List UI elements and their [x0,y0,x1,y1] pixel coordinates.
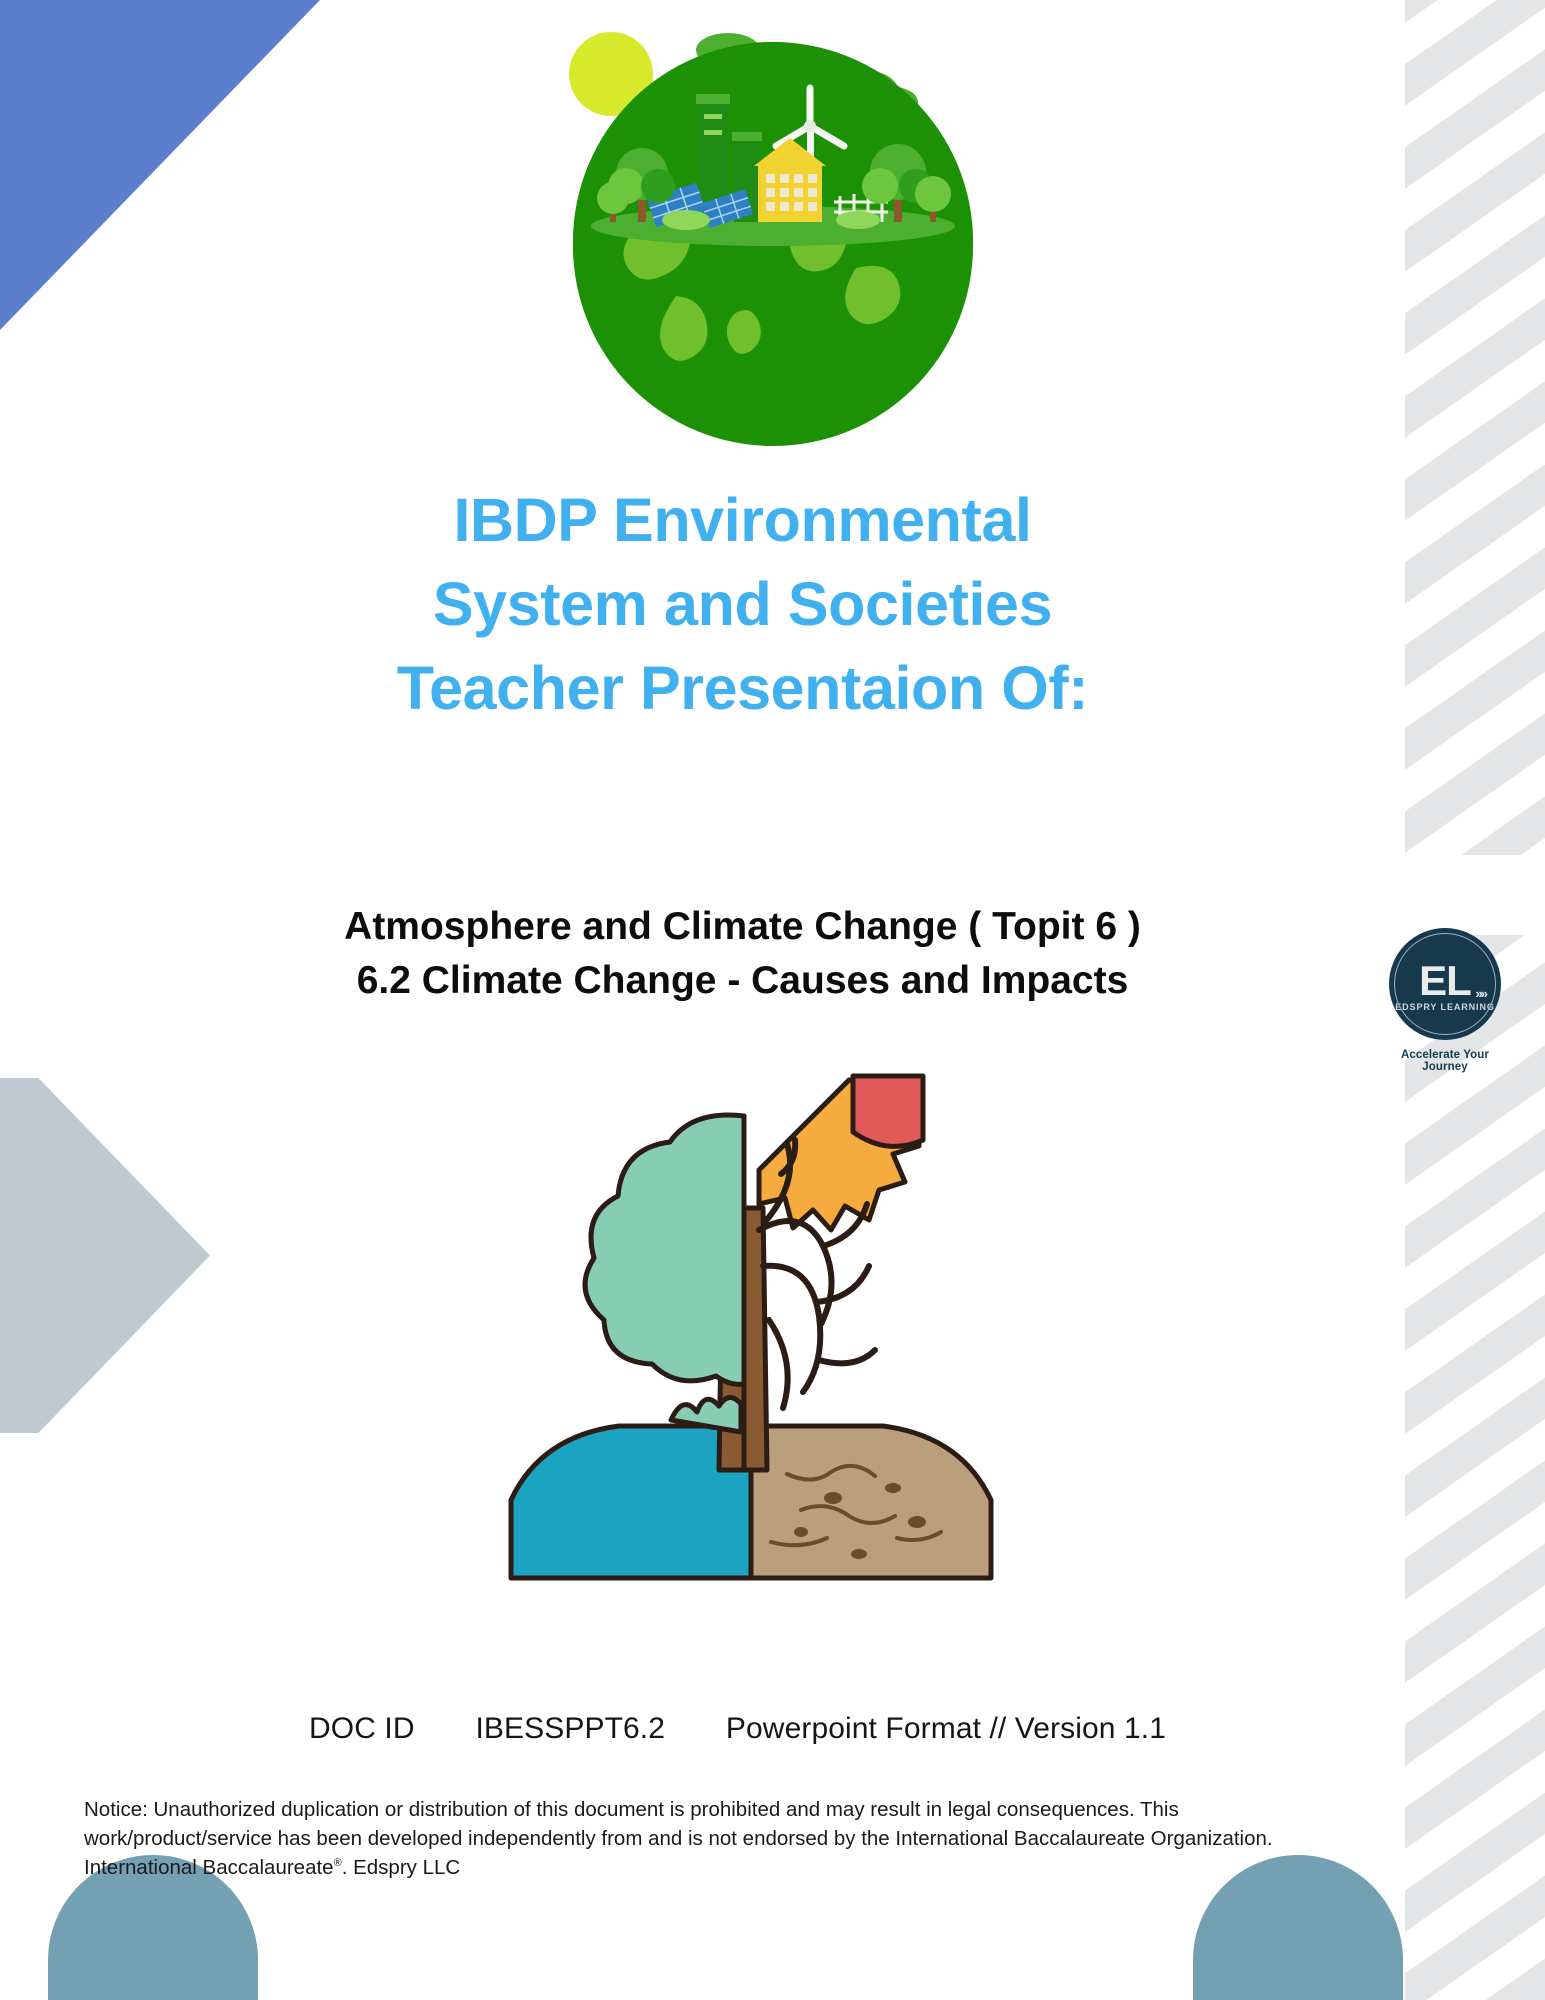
subtitle-line-topic: Atmosphere and Climate Change ( Topit 6 … [0,900,1485,954]
page-title: IBDP Environmental System and Societies … [0,478,1545,731]
notice-line-1: Notice: Unauthorized duplication or dist… [84,1795,1384,1824]
registered-mark-icon: ® [334,1857,342,1869]
doc-format-version: Powerpoint Format // Version 1.1 [726,1712,1166,1746]
doc-meta-line: DOC ID IBESSPPT6.2 Powerpoint Format // … [0,1712,1545,1746]
edspry-learning-logo: EL »» EDSPRY LEARNING Accelerate Your Jo… [1383,928,1507,1073]
logo-circle: EL »» EDSPRY LEARNING [1389,928,1501,1040]
notice-owner-text: . Edspry LLC [342,1856,461,1879]
doc-id-value: IBESSPPT6.2 [476,1712,666,1746]
green-earth-illustration [558,14,988,454]
climate-change-split-illustration [501,1070,1001,1600]
logo-tagline: Accelerate Your Journey [1383,1049,1507,1073]
logo-monogram: EL [1419,962,1471,1001]
subtitle-line-unit: 6.2 Climate Change - Causes and Impacts [0,954,1485,1008]
double-chevron-icon: »» [1476,986,1486,1001]
title-line-1: IBDP Environmental [0,478,1485,562]
title-line-3: Teacher Presentaion Of: [0,646,1485,730]
notice-line-2: work/product/service has been developed … [84,1824,1384,1853]
document-cover-page: IBDP Environmental System and Societies … [0,0,1545,2000]
notice-ib-text: International Baccalaureate [84,1856,334,1879]
doc-id-label: DOC ID [309,1712,415,1746]
legal-notice: Notice: Unauthorized duplication or dist… [84,1795,1384,1882]
notice-line-3: International Baccalaureate®. Edspry LLC [84,1853,1384,1882]
logo-company-name: EDSPRY LEARNING [1395,1002,1495,1012]
page-subtitle: Atmosphere and Climate Change ( Topit 6 … [0,900,1545,1008]
title-line-2: System and Societies [0,562,1485,646]
